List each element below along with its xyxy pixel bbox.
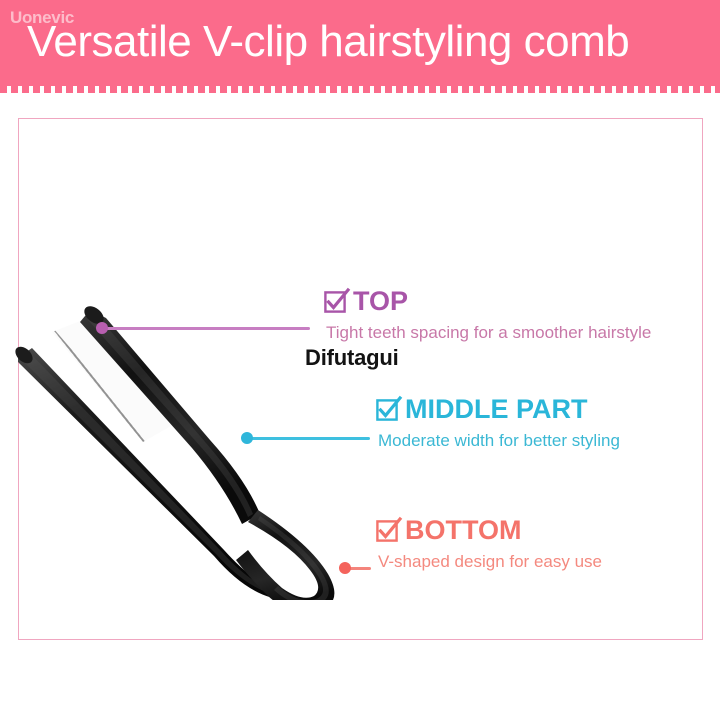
checkbox-checked-icon (376, 520, 398, 542)
callout-heading-middle: MIDDLE PART (376, 396, 620, 423)
callout-description-top: Tight teeth spacing for a smoother hairs… (326, 324, 651, 343)
header-scallop-divider (0, 86, 720, 93)
anchor-dot-top (96, 322, 108, 334)
page-title: Versatile V-clip hairstyling comb (27, 19, 629, 65)
callout-heading-label-bottom: BOTTOM (405, 517, 522, 544)
header-banner: Uonevic Versatile V-clip hairstyling com… (0, 0, 720, 86)
checkbox-checked-icon (376, 399, 398, 421)
feature-callout-middle: MIDDLE PART Moderate width for better st… (376, 396, 620, 451)
anchor-dot-middle (241, 432, 253, 444)
callout-description-bottom: V-shaped design for easy use (378, 553, 602, 572)
checkbox-checked-icon (324, 291, 346, 313)
feature-callout-top: TOP Tight teeth spacing for a smoother h… (324, 288, 651, 343)
callout-heading-top: TOP (324, 288, 651, 315)
overlay-brand-text: Difutagui (305, 347, 399, 369)
callout-heading-bottom: BOTTOM (376, 517, 602, 544)
leader-line-middle (250, 437, 370, 440)
callout-description-middle: Moderate width for better styling (378, 432, 620, 451)
callout-heading-label-top: TOP (353, 288, 408, 315)
leader-line-top (104, 327, 310, 330)
feature-callout-bottom: BOTTOM V-shaped design for easy use (376, 517, 602, 572)
callout-heading-label-middle: MIDDLE PART (405, 396, 588, 423)
anchor-dot-bottom (339, 562, 351, 574)
leader-line-bottom (349, 567, 371, 570)
